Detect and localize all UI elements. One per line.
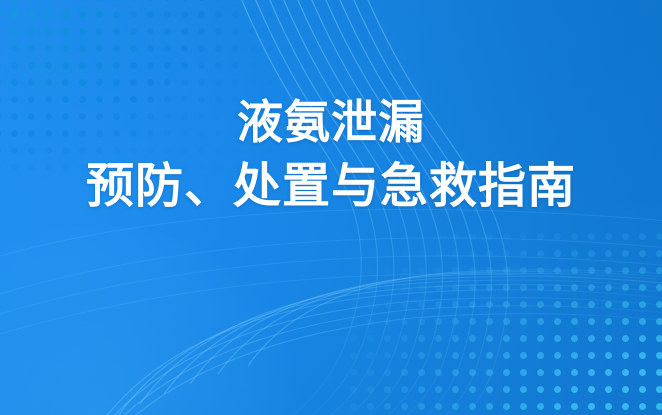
title-line-primary: 液氨泄漏 xyxy=(0,92,662,152)
title-banner: 液氨泄漏 预防、处置与急救指南 xyxy=(0,0,662,415)
banner-title: 液氨泄漏 预防、处置与急救指南 xyxy=(0,92,662,218)
title-line-secondary: 预防、处置与急救指南 xyxy=(0,154,662,218)
